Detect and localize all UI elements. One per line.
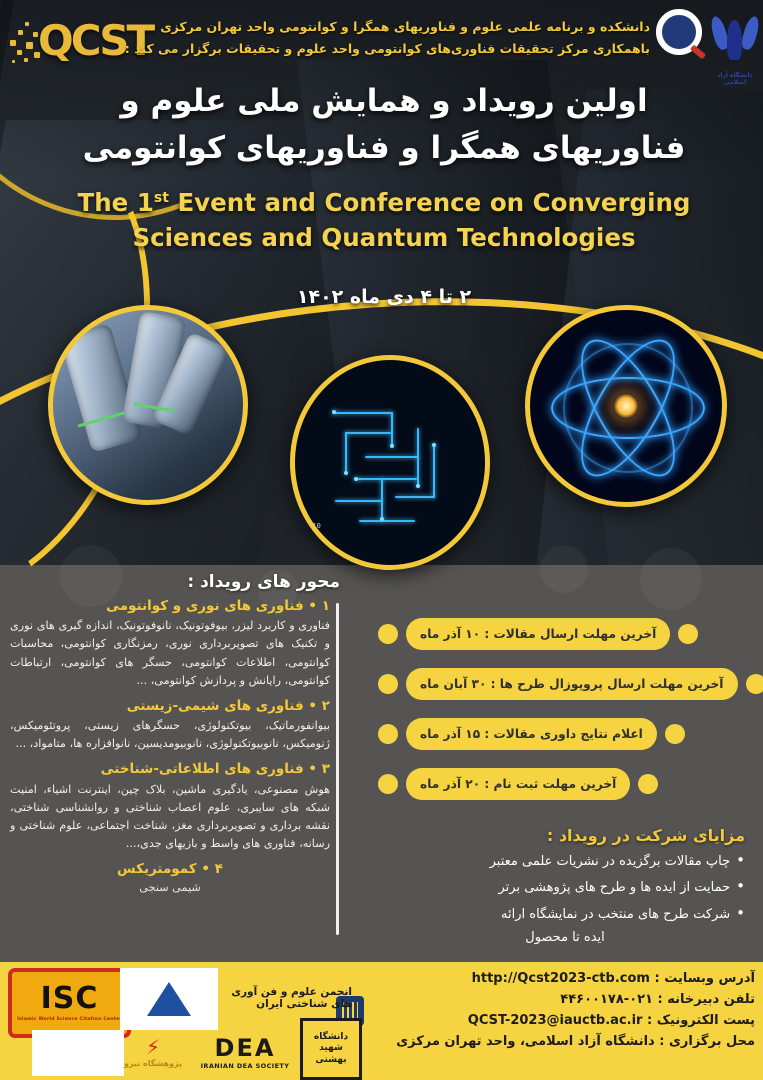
binary-overlay: 0110010010011001 — [304, 522, 321, 557]
partner-logo-box — [32, 1030, 124, 1076]
atom-image — [525, 305, 727, 507]
email-value[interactable]: QCST-2023@iauctb.ac.ir — [468, 1013, 643, 1028]
conference-poster: QCST دانشگاه آزاد اسلامی دانشکده و برنام… — [0, 0, 763, 1080]
qcst-logo: QCST — [8, 10, 138, 72]
deadline-row: آخرین مهلت ثبت نام : ۲۰ آذر ماه — [378, 768, 658, 800]
bullet-dot-icon — [378, 724, 398, 744]
microscope-image — [48, 305, 248, 505]
topic-label: فناوری های شیمی-زیستی — [127, 698, 304, 714]
topic-title: ۳ • فناوری های اطلاعاتی-شناختی — [10, 759, 330, 779]
topic-body: هوش مصنوعی، یادگیری ماشین، بلاک چین، این… — [10, 781, 330, 854]
topic-number: ۲ — [322, 698, 330, 714]
topic-body: فناوری و کاربرد لیزر، بیوفوتونیک، نانوفو… — [10, 617, 330, 690]
email-row: پست الکترونیک : QCST-2023@iauctb.ac.ir — [365, 1010, 755, 1031]
topic-number: ۴ — [215, 861, 223, 877]
shahid-beheshti-logo: دانشگاه شهید بهشتی — [300, 1018, 362, 1080]
azad-university-logo — [712, 6, 758, 72]
logo-ring — [656, 9, 702, 55]
topic-label: کمومتریکس — [117, 861, 197, 877]
topic-body: بیوانفورماتیک، بیوتکنولوژی، حسگرهای زیست… — [10, 717, 330, 753]
deadline-row: آخرین مهلت ارسال مقالات : ۱۰ آذر ماه — [378, 618, 698, 650]
topic-item: ۴ • کمومتریکس شیمی سنجی — [10, 859, 330, 897]
isc-subtitle: Islamic World Science Citation Center — [17, 1017, 122, 1022]
topic-item: ۲ • فناوری های شیمی-زیستی بیوانفورماتیک،… — [10, 696, 330, 754]
deadline-pill[interactable]: اعلام نتایج داوری مقالات : ۱۵ آذر ماه — [406, 718, 657, 750]
lightning-bolt-icon: ⚡ — [146, 1037, 160, 1057]
english-title-rest: Event and Conference on Converging — [177, 188, 690, 217]
contact-info: آدرس وبسایت : http://Qcst2023-ctb.com تل… — [365, 968, 755, 1052]
website-value[interactable]: http://Qcst2023-ctb.com — [472, 971, 650, 986]
organizer-header: دانشکده و برنامه علمی علوم و فناوریهای ه… — [120, 16, 650, 60]
deadline-pill[interactable]: آخرین مهلت ثبت نام : ۲۰ آذر ماه — [406, 768, 630, 800]
qcst-circular-logo — [655, 8, 703, 56]
benefits-list: چاپ مقالات برگزیده در نشریات علمی معتبر … — [385, 848, 745, 948]
website-row: آدرس وبسایت : http://Qcst2023-ctb.com — [365, 968, 755, 989]
topic-number: ۱ — [322, 598, 330, 614]
niroo-label: پژوهشگاه نیرو — [124, 1059, 182, 1068]
venue-value: دانشگاه آزاد اسلامی، واحد تهران مرکزی — [396, 1034, 655, 1049]
isc-logo: ISC Islamic World Science Citation Cente… — [8, 968, 131, 1038]
venue-row: محل برگزاری : دانشگاه آزاد اسلامی، واحد … — [365, 1031, 755, 1052]
english-title-line-1: The 1st Event and Conference on Convergi… — [60, 186, 708, 221]
bullet-dot-icon — [378, 774, 398, 794]
topic-title: ۲ • فناوری های شیمی-زیستی — [10, 696, 330, 716]
column-divider — [336, 603, 339, 935]
deadline-pill[interactable]: آخرین مهلت ارسال مقالات : ۱۰ آذر ماه — [406, 618, 670, 650]
atom-nucleus — [613, 393, 639, 419]
topic-title: ۴ • کمومتریکس — [10, 859, 330, 879]
niroo-research-logo: ⚡ پژوهشگاه نیرو — [118, 1028, 188, 1076]
topic-body: شیمی سنجی — [10, 880, 330, 897]
bullet-dot-icon — [746, 674, 763, 694]
topic-label: فناوری های نوری و کوانتومی — [106, 598, 304, 614]
topics-list: ۱ • فناوری های نوری و کوانتومی فناوری و … — [10, 596, 330, 903]
persian-title-line-1: اولین رویداد و همایش ملی علوم و — [60, 78, 708, 125]
organizer-line-1: دانشکده و برنامه علمی علوم و فناوریهای ه… — [120, 16, 650, 38]
isc-wordmark: ISC — [41, 984, 99, 1014]
benefit-item: شرکت طرح های منتخب در نمایشگاه ارائه — [385, 901, 745, 925]
topics-heading: محور های رویداد : — [160, 572, 340, 592]
dea-wordmark: DEA — [215, 1036, 276, 1060]
topic-item: ۱ • فناوری های نوری و کوانتومی فناوری و … — [10, 596, 330, 690]
deadline-row: اعلام نتایج داوری مقالات : ۱۵ آذر ماه — [378, 718, 685, 750]
bullet-dot-icon — [638, 774, 658, 794]
cognitive-society-logo — [120, 968, 218, 1030]
topic-label: فناوری های اطلاعاتی-شناختی — [101, 761, 304, 777]
persian-title: اولین رویداد و همایش ملی علوم و فناوریها… — [60, 78, 708, 171]
dea-society-logo: DEA IRANIAN DEA SOCIETY — [185, 1030, 305, 1076]
deadline-pill[interactable]: آخرین مهلت ارسال پروپوزال طرح ها : ۳۰ آب… — [406, 668, 738, 700]
english-title: The 1st Event and Conference on Convergi… — [60, 186, 708, 256]
english-title-prefix: The 1 — [78, 188, 154, 217]
bullet-dot-icon — [378, 624, 398, 644]
triangle-emblem-icon — [147, 982, 191, 1016]
circuit-brain-image: 0110010010011001 — [290, 355, 490, 570]
azad-logo-caption: دانشگاه آزاد اسلامی — [706, 72, 763, 86]
dea-subtitle: IRANIAN DEA SOCIETY — [201, 1062, 290, 1070]
benefit-continuation: ایده تا محصول — [385, 927, 745, 948]
website-label: آدرس وبسایت : — [654, 971, 755, 986]
phone-value: ۰۲۱-۴۴۶۰۰۱۷۸ — [560, 992, 653, 1007]
benefits-heading: مزایای شرکت در رویداد : — [390, 826, 745, 845]
phone-row: تلفن دبیرخانه : ۰۲۱-۴۴۶۰۰۱۷۸ — [365, 989, 755, 1010]
bullet-dot-icon — [665, 724, 685, 744]
organizer-line-2: باهمکاری مرکز تحقیقات فناوری‌های کوانتوم… — [120, 38, 650, 60]
benefit-item: چاپ مقالات برگزیده در نشریات علمی معتبر — [385, 848, 745, 872]
ordinal-suffix: st — [154, 190, 169, 206]
phone-label: تلفن دبیرخانه : — [658, 992, 755, 1007]
persian-title-line-2: فناوریهای همگرا و فناوریهای کوانتومی — [60, 125, 708, 172]
deadline-row: آخرین مهلت ارسال پروپوزال طرح ها : ۳۰ آب… — [378, 668, 763, 700]
topic-number: ۳ — [322, 761, 330, 777]
benefit-item: حمایت از ایده ها و طرح های پژوهشی برتر — [385, 874, 745, 898]
email-label: پست الکترونیک : — [647, 1013, 755, 1028]
cognitive-society-name: انجمن علوم و فن آوری های شناختی ایران — [222, 986, 352, 1010]
venue-label: محل برگزاری : — [659, 1034, 755, 1049]
topic-item: ۳ • فناوری های اطلاعاتی-شناختی هوش مصنوع… — [10, 759, 330, 853]
topic-title: ۱ • فناوری های نوری و کوانتومی — [10, 596, 330, 616]
english-title-line-2: Sciences and Quantum Technologies — [60, 221, 708, 256]
bullet-dot-icon — [678, 624, 698, 644]
bullet-dot-icon — [378, 674, 398, 694]
